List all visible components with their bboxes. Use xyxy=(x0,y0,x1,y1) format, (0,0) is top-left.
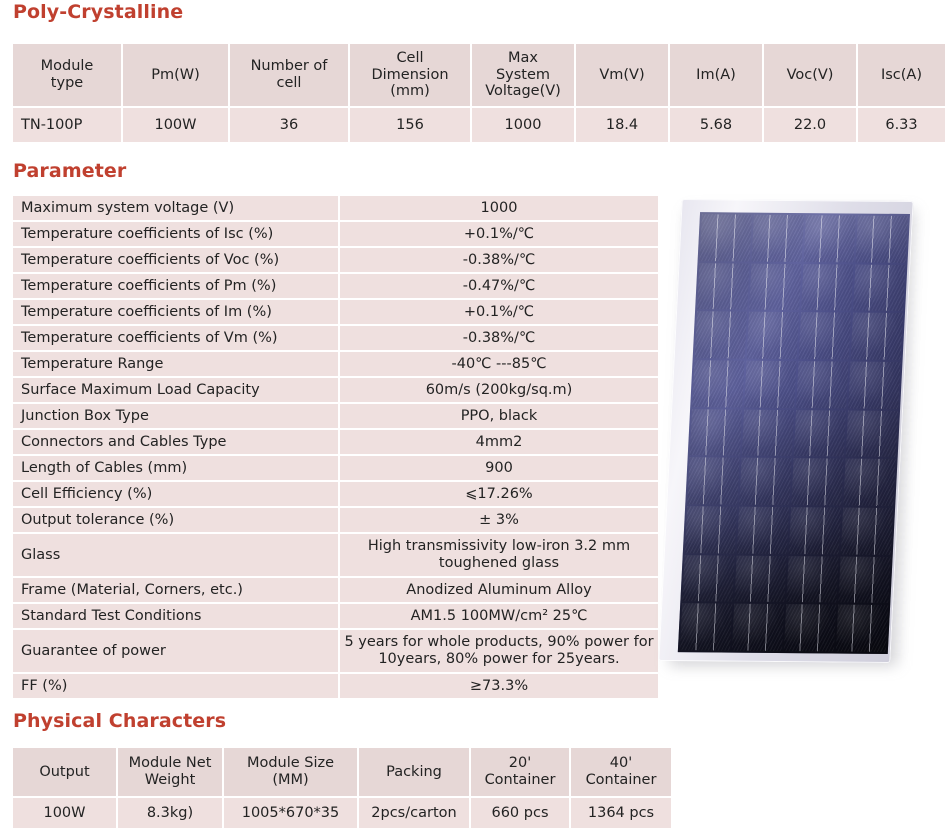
electrical-header-cell-line: Isc(A) xyxy=(858,67,945,84)
electrical-header-cell-line: (mm) xyxy=(350,83,470,100)
parameter-label-cell: Temperature coefficients of Im (%) xyxy=(13,300,338,324)
pv-cell xyxy=(734,555,786,602)
electrical-data-cell: 36 xyxy=(230,108,348,142)
electrical-data-cell: 5.68 xyxy=(670,108,762,142)
electrical-data-cell: 6.33 xyxy=(858,108,945,142)
electrical-header-cell-line: Pm(W) xyxy=(123,67,228,84)
parameter-label-cell: Cell Efficiency (%) xyxy=(13,482,338,506)
parameter-label-cell: Connectors and Cables Type xyxy=(13,430,338,454)
pv-cell xyxy=(801,264,853,311)
pv-cell xyxy=(846,410,898,457)
parameter-value-cell: 4mm2 xyxy=(340,430,658,454)
electrical-data-cell: 1000 xyxy=(472,108,574,142)
parameter-label-cell: Surface Maximum Load Capacity xyxy=(13,378,338,402)
parameter-value-cell: AM1.5 100MW/cm² 25℃ xyxy=(340,604,658,628)
pv-cell xyxy=(836,605,888,652)
pv-cell xyxy=(732,604,784,651)
physical-header-cell-line: Output xyxy=(13,764,116,781)
pv-cell xyxy=(804,215,856,262)
parameter-label-cell: FF (%) xyxy=(13,674,338,698)
physical-header-cell-line: Container xyxy=(571,772,671,789)
parameter-value-cell: High transmissivity low-iron 3.2 mmtough… xyxy=(340,534,658,576)
parameter-value-cell: 60m/s (200kg/sq.m) xyxy=(340,378,658,402)
electrical-data-cell: TN-100P xyxy=(13,108,121,142)
pv-cell xyxy=(744,361,796,408)
parameter-value-cell: -0.38%/℃ xyxy=(340,248,658,272)
physical-data-cell: 8.3kg) xyxy=(118,798,222,828)
physical-header-cell: Module NetWeight xyxy=(118,748,222,796)
parameter-value-cell: -40℃ ---85℃ xyxy=(340,352,658,376)
parameter-value-cell: ± 3% xyxy=(340,508,658,532)
parameter-value-cell-line: toughened glass xyxy=(340,555,658,572)
pv-cell xyxy=(853,264,905,311)
pv-cell xyxy=(841,508,893,555)
parameter-label-cell: Length of Cables (mm) xyxy=(13,456,338,480)
physical-header-cell-line: Packing xyxy=(359,764,469,781)
pv-cell xyxy=(739,458,791,505)
electrical-header-cell: Vm(V) xyxy=(576,44,668,106)
solar-panel-photo xyxy=(662,196,942,678)
parameter-table: Maximum system voltage (V)1000Temperatur… xyxy=(13,196,658,700)
parameter-label-cell: Temperature coefficients of Pm (%) xyxy=(13,274,338,298)
pv-cell xyxy=(796,361,848,408)
electrical-specifications-table: ModuletypeTN-100PPm(W)100WNumber ofcell3… xyxy=(13,44,931,144)
parameter-label-cell: Output tolerance (%) xyxy=(13,508,338,532)
parameter-value-cell: PPO, black xyxy=(340,404,658,428)
electrical-header-cell-line: Voltage(V) xyxy=(472,83,574,100)
parameter-label-cell: Temperature coefficients of Vm (%) xyxy=(13,326,338,350)
physical-header-cell-line: 40' xyxy=(571,755,671,772)
pv-cell xyxy=(687,457,739,504)
electrical-data-cell: 18.4 xyxy=(576,108,668,142)
electrical-header-cell-line: Number of xyxy=(230,58,348,75)
panel-laminate-surface xyxy=(678,212,910,654)
physical-header-cell-line: Container xyxy=(471,772,569,789)
parameter-value-cell: ⩽17.26% xyxy=(340,482,658,506)
electrical-header-cell-line: type xyxy=(13,75,121,92)
physical-header-cell-line: Weight xyxy=(118,772,222,789)
pv-cell xyxy=(680,603,732,650)
parameter-label-cell: Standard Test Conditions xyxy=(13,604,338,628)
physical-characters-table: Output100WModule NetWeight8.3kg)Module S… xyxy=(13,748,668,830)
parameter-label-cell: Frame (Material, Corners, etc.) xyxy=(13,578,338,602)
electrical-header-cell-line: Voc(V) xyxy=(764,67,856,84)
pv-cell xyxy=(851,313,903,360)
parameter-value-cell: ≥73.3% xyxy=(340,674,658,698)
parameter-label-cell: Maximum system voltage (V) xyxy=(13,196,338,220)
pv-cell xyxy=(843,459,895,506)
pv-cell xyxy=(794,410,846,457)
parameter-label-cell: Temperature Range xyxy=(13,352,338,376)
electrical-header-cell-line: cell xyxy=(230,75,348,92)
pv-cell xyxy=(737,507,789,554)
electrical-header-cell: MaxSystemVoltage(V) xyxy=(472,44,574,106)
physical-header-cell: Output xyxy=(13,748,116,796)
panel-aluminum-frame xyxy=(658,199,913,663)
pv-cell xyxy=(784,604,836,651)
parameter-value-cell: Anodized Aluminum Alloy xyxy=(340,578,658,602)
pv-cell xyxy=(697,263,749,310)
physical-header-cell: 40'Container xyxy=(571,748,671,796)
physical-header-cell-line: Module Size xyxy=(224,755,357,772)
panel-cell-grid xyxy=(678,212,910,654)
pv-cell xyxy=(742,409,794,456)
parameter-value-cell-line: High transmissivity low-iron 3.2 mm xyxy=(340,538,658,555)
electrical-header-cell: Voc(V) xyxy=(764,44,856,106)
physical-data-cell: 2pcs/carton xyxy=(359,798,469,828)
section-heading-poly-crystalline: Poly-Crystalline xyxy=(13,1,183,23)
pv-cell xyxy=(791,458,843,505)
pv-cell xyxy=(692,360,744,407)
parameter-value-cell-line: 5 years for whole products, 90% power fo… xyxy=(340,634,658,651)
parameter-label-cell: Temperature coefficients of Voc (%) xyxy=(13,248,338,272)
pv-cell xyxy=(786,556,838,603)
electrical-header-cell-line: Dimension xyxy=(350,67,470,84)
electrical-header-cell: Number ofcell xyxy=(230,44,348,106)
parameter-label-cell: Temperature coefficients of Isc (%) xyxy=(13,222,338,246)
physical-header-cell-line: 20' xyxy=(471,755,569,772)
parameter-value-cell: +0.1%/℃ xyxy=(340,222,658,246)
pv-cell xyxy=(685,506,737,553)
physical-data-cell: 1364 pcs xyxy=(571,798,671,828)
parameter-value-cell: 1000 xyxy=(340,196,658,220)
electrical-data-cell: 22.0 xyxy=(764,108,856,142)
parameter-value-cell: 5 years for whole products, 90% power fo… xyxy=(340,630,658,672)
electrical-header-cell-line: Vm(V) xyxy=(576,67,668,84)
physical-header-cell: 20'Container xyxy=(471,748,569,796)
parameter-value-cell: +0.1%/℃ xyxy=(340,300,658,324)
parameter-label-cell: Glass xyxy=(13,534,338,576)
section-heading-parameter: Parameter xyxy=(13,160,126,182)
parameter-value-cell-line: 10years, 80% power for 25years. xyxy=(340,651,658,668)
electrical-data-cell: 100W xyxy=(123,108,228,142)
electrical-data-cell: 156 xyxy=(350,108,470,142)
pv-cell xyxy=(848,362,900,409)
electrical-header-cell: CellDimension(mm) xyxy=(350,44,470,106)
electrical-header-cell-line: Max xyxy=(472,50,574,67)
parameter-value-cell: 900 xyxy=(340,456,658,480)
pv-cell xyxy=(838,556,890,603)
pv-cell xyxy=(752,215,804,262)
pv-cell xyxy=(799,312,851,359)
section-heading-physical-characters: Physical Characters xyxy=(13,710,226,732)
electrical-header-cell-line: System xyxy=(472,67,574,84)
physical-header-cell: Packing xyxy=(359,748,469,796)
pv-cell xyxy=(690,409,742,456)
physical-data-cell: 660 pcs xyxy=(471,798,569,828)
physical-data-cell: 100W xyxy=(13,798,116,828)
parameter-label-cell: Guarantee of power xyxy=(13,630,338,672)
physical-data-cell: 1005*670*35 xyxy=(224,798,357,828)
parameter-value-cell: -0.38%/℃ xyxy=(340,326,658,350)
physical-header-cell: Module Size(MM) xyxy=(224,748,357,796)
electrical-header-cell-line: Im(A) xyxy=(670,67,762,84)
pv-cell xyxy=(856,216,908,263)
physical-header-cell-line: Module Net xyxy=(118,755,222,772)
pv-cell xyxy=(695,312,747,359)
electrical-header-cell-line: Cell xyxy=(350,50,470,67)
electrical-header-cell: Isc(A) xyxy=(858,44,945,106)
electrical-header-cell-line: Module xyxy=(13,58,121,75)
pv-cell xyxy=(682,555,734,602)
parameter-value-cell: -0.47%/℃ xyxy=(340,274,658,298)
electrical-header-cell: Pm(W) xyxy=(123,44,228,106)
electrical-header-cell: Im(A) xyxy=(670,44,762,106)
physical-header-cell-line: (MM) xyxy=(224,772,357,789)
pv-cell xyxy=(700,214,752,261)
electrical-header-cell: Moduletype xyxy=(13,44,121,106)
pv-cell xyxy=(747,312,799,359)
pv-cell xyxy=(789,507,841,554)
parameter-label-cell: Junction Box Type xyxy=(13,404,338,428)
pv-cell xyxy=(749,263,801,310)
